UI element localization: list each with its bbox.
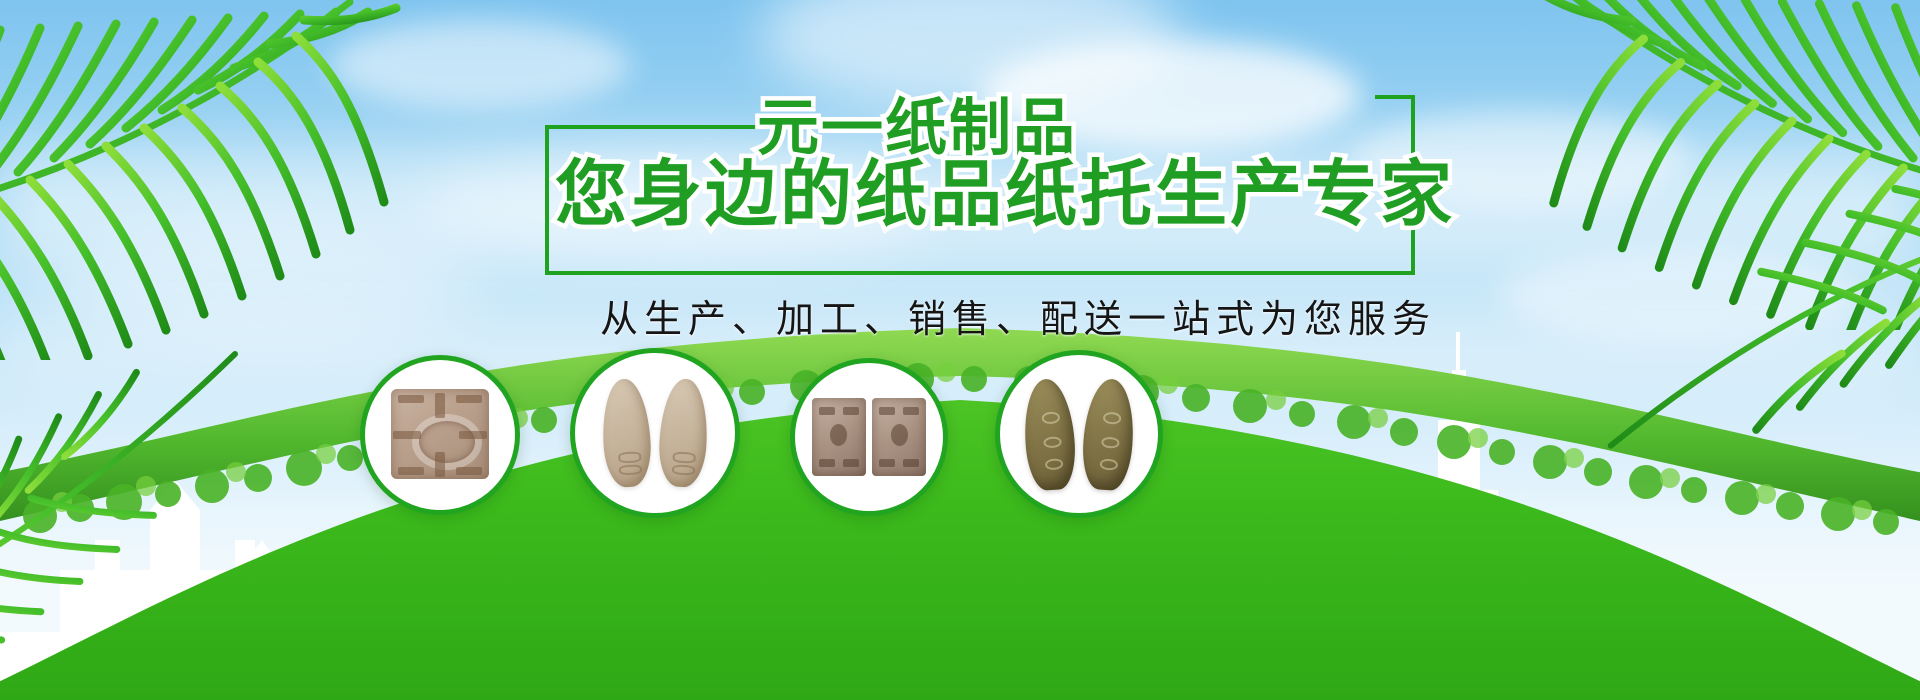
frame-line-top-right: [1375, 95, 1415, 99]
paper-pulp-shoe-inserts-image: [593, 377, 718, 489]
product-circle-3[interactable]: [790, 358, 948, 516]
grass-bush-texture: [0, 280, 1920, 700]
square-pulp-tray-image: [382, 383, 499, 488]
headline-block: 元一纸制品 您身边的纸品纸托生产专家: [545, 95, 1415, 275]
frame-line-bottom: [545, 271, 1415, 275]
promo-banner: 元一纸制品 您身边的纸品纸托生产专家 从生产、加工、销售、配送一站式为您服务: [0, 0, 1920, 700]
paired-pulp-trays-image: [811, 385, 926, 489]
olive-pulp-shoe-forms-image: [1017, 379, 1140, 490]
page-title: 您身边的纸品纸托生产专家: [555, 153, 1455, 235]
page-subtitle: 从生产、加工、销售、配送一站式为您服务: [600, 288, 1436, 343]
frame-line-left: [545, 125, 549, 275]
product-circle-1[interactable]: [360, 355, 520, 515]
product-circle-2[interactable]: [570, 348, 740, 518]
product-circle-4[interactable]: [995, 350, 1163, 518]
